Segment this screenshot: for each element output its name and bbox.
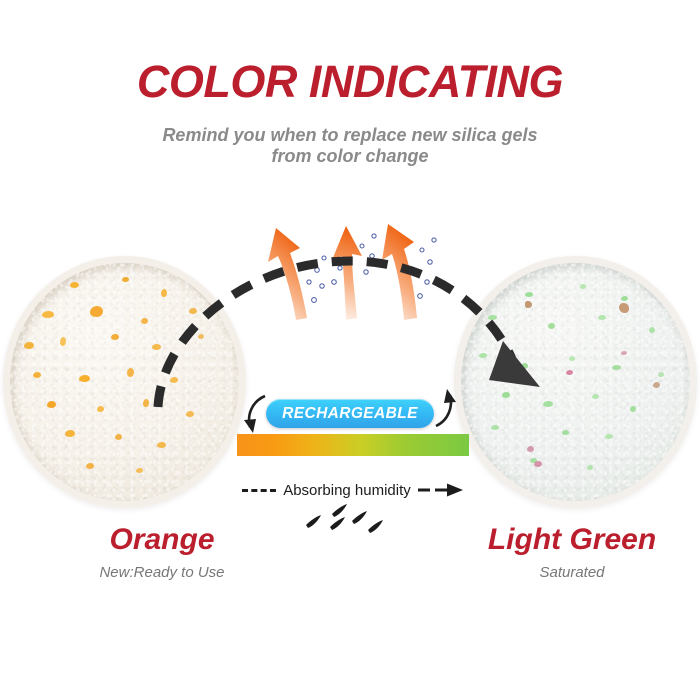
subtitle-line-2: from color change [0,146,700,167]
left-caption-title: Orange [2,523,322,557]
orange-speck [70,282,79,288]
recharge-arc [140,235,560,410]
orange-speck [90,306,103,317]
droplet [332,504,347,517]
green-speck [491,425,499,430]
orange-speck [24,342,34,349]
green-speck [592,394,599,399]
page-subtitle: Remind you when to replace new silica ge… [0,125,700,167]
left-caption-subtitle: New:Ready to Use [2,564,322,581]
green-speck [562,430,569,435]
droplet [352,511,367,524]
pink-fleck [534,461,542,467]
droplet [330,517,345,530]
orange-speck [186,411,194,417]
orange-speck [97,406,104,412]
droplet [368,520,383,533]
rechargeable-badge[interactable]: RECHARGEABLE [266,399,434,428]
orange-speck [86,463,94,469]
orange-speck [127,368,134,377]
page-title: COLOR INDICATING [0,58,700,105]
color-indicating-infographic: COLOR INDICATING Remind you when to repl… [0,0,700,700]
orange-speck [47,401,56,408]
orange-speck [65,430,75,437]
green-speck [649,327,655,333]
orange-speck [136,468,143,473]
brown-fleck [619,303,629,313]
right-caption-subtitle: Saturated [412,564,700,581]
orange-speck [79,375,90,382]
green-speck [569,356,575,361]
dashed-line-left [242,489,276,492]
recharge-arrow-head [489,341,540,387]
absorbing-humidity-arrow [418,482,464,498]
orange-speck [157,442,166,448]
subtitle-line-1: Remind you when to replace new silica ge… [0,125,700,146]
color-gradient-bar [237,434,469,456]
absorbing-humidity-row: Absorbing humidity [228,479,478,501]
right-caption-title: Light Green [412,523,700,557]
orange-speck [42,311,54,318]
rechargeable-badge-label: RECHARGEABLE [282,405,418,423]
absorbing-humidity-label: Absorbing humidity [283,482,411,499]
